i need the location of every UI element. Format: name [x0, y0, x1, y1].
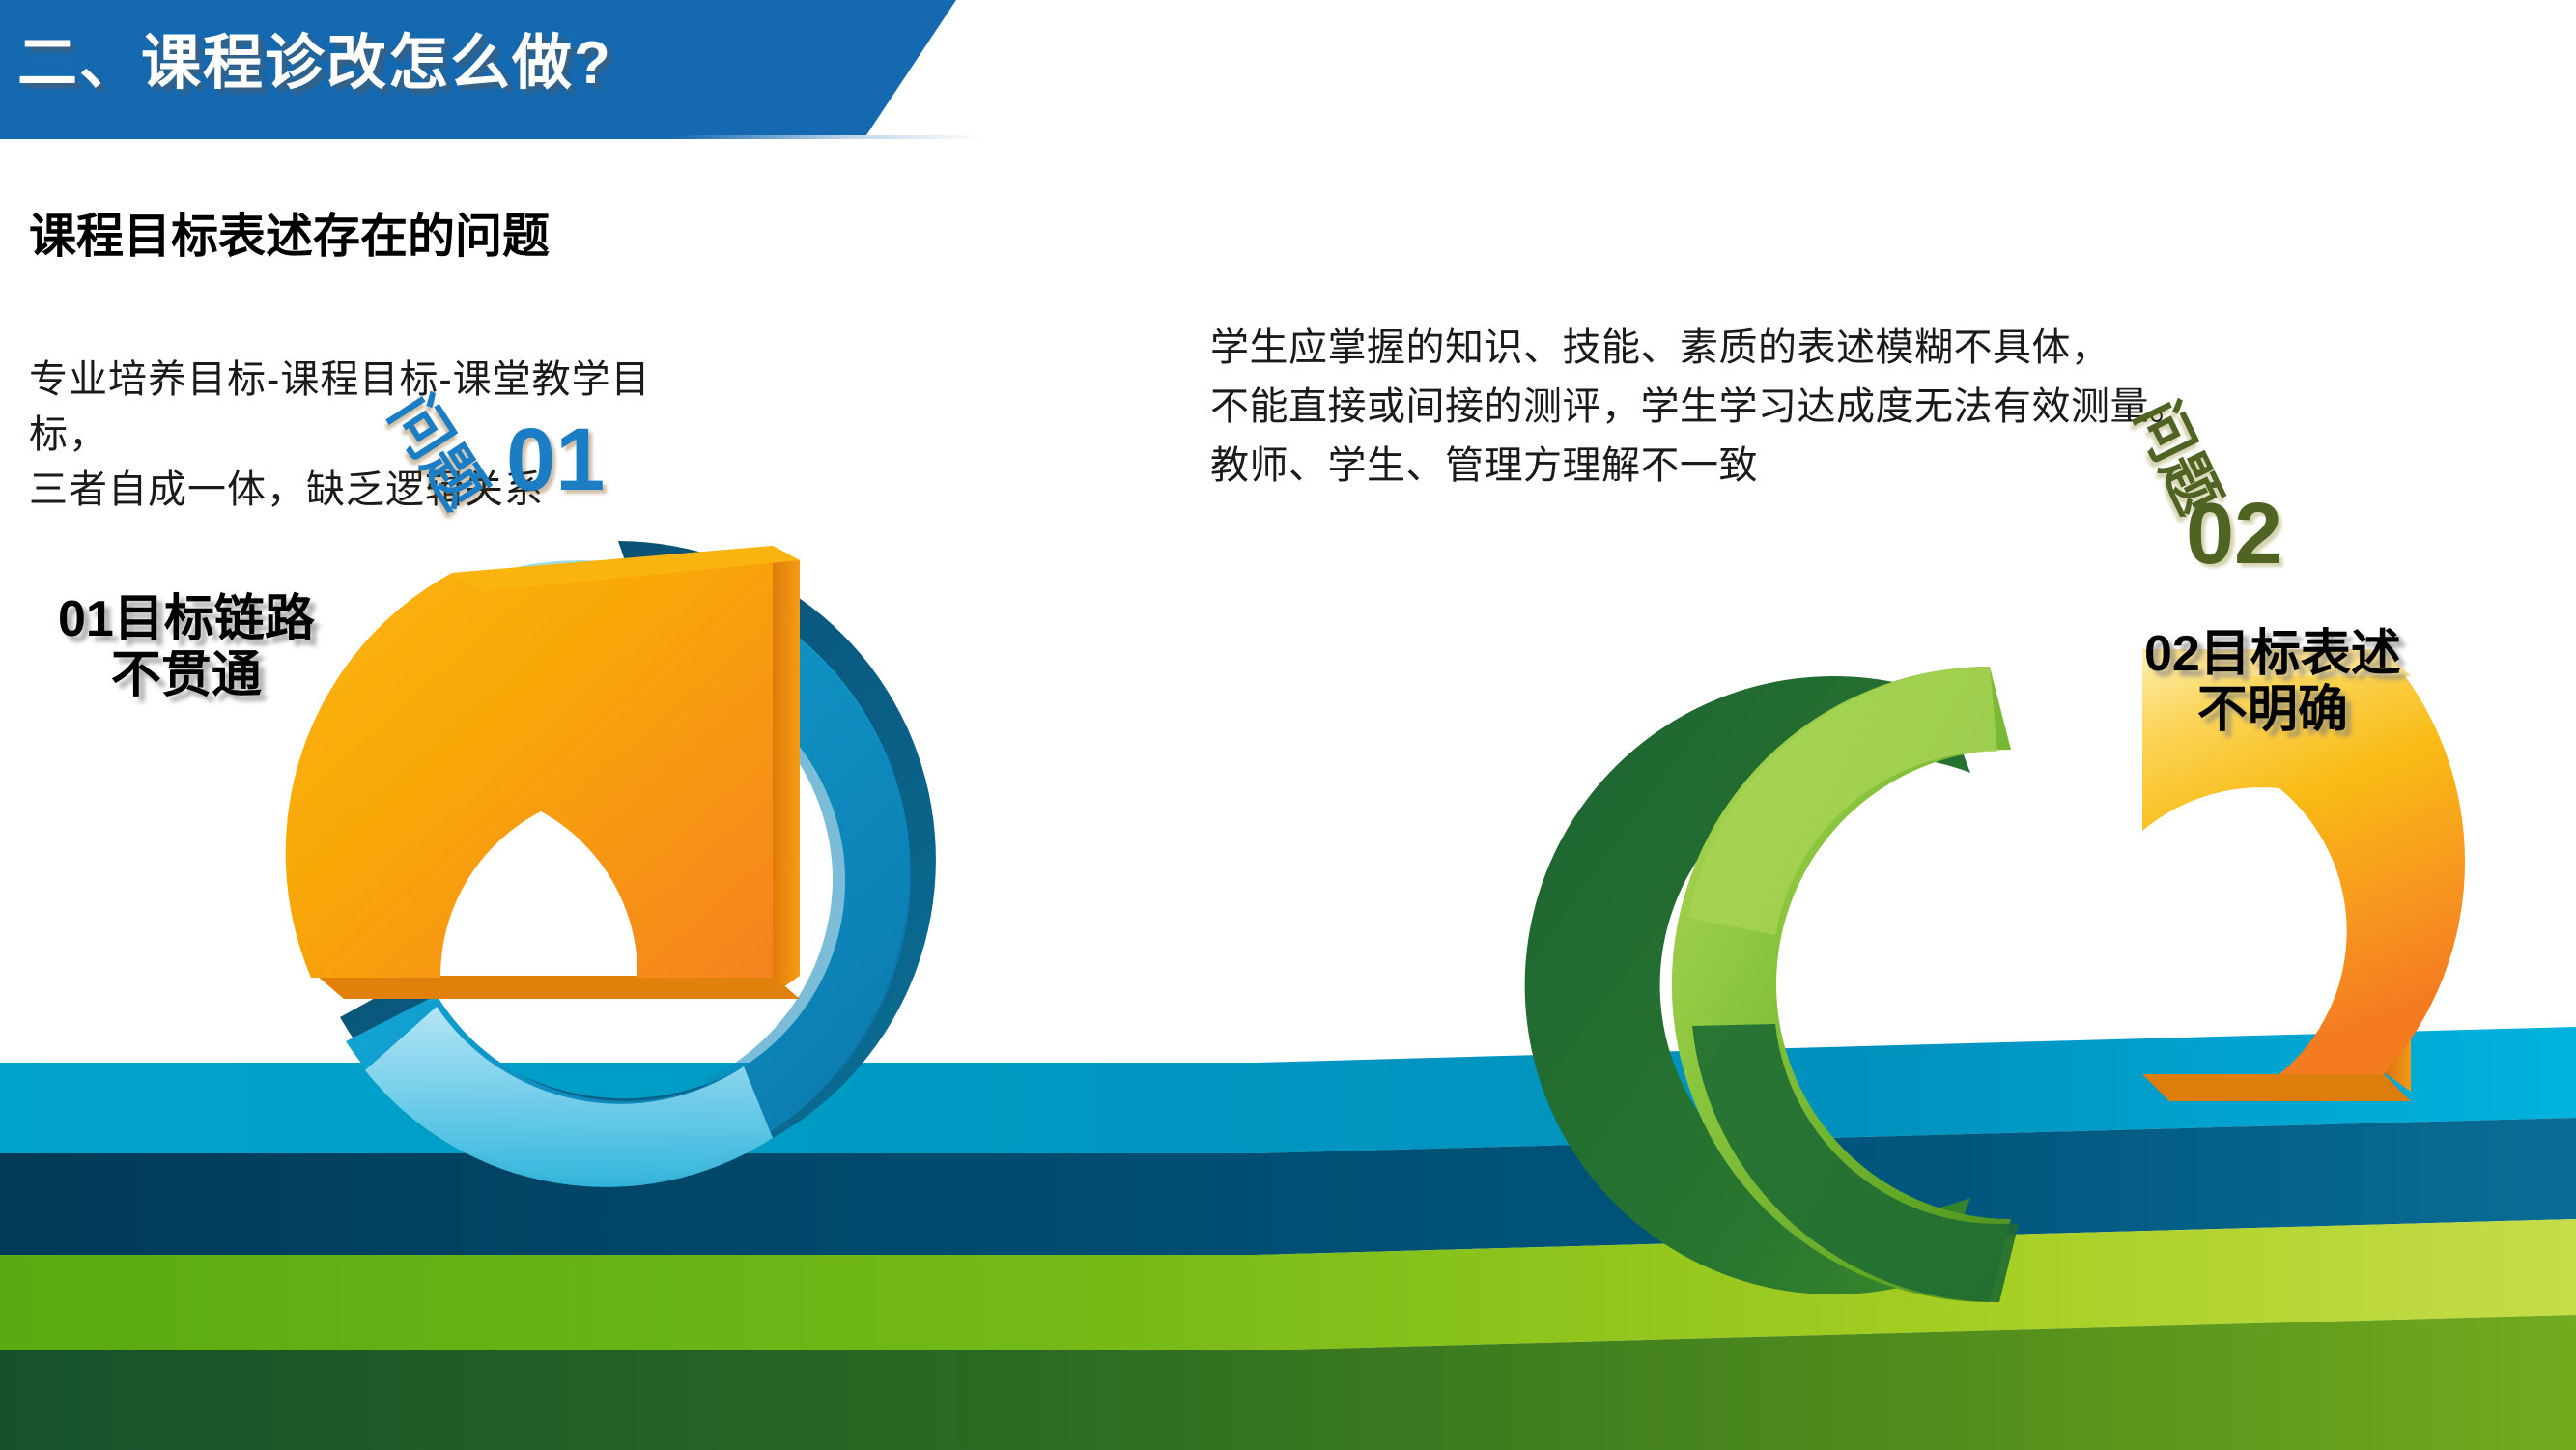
section-heading: 课程目标表述存在的问题	[29, 198, 550, 267]
page-title: 二、课程诊改怎么做?	[17, 14, 612, 100]
header-underline	[0, 135, 2576, 139]
callout-label-01: 01目标链路 不贯通	[58, 591, 315, 703]
callout-02-line-2: 不明确	[2144, 682, 2401, 738]
ribbon-01-number: 01	[506, 410, 605, 511]
callout-label-02: 02目标表述 不明确	[2144, 626, 2401, 738]
orange-ribbon-01	[286, 546, 800, 999]
right-paragraph-line-3: 教师、学生、管理方理解不一致	[1210, 437, 2562, 496]
right-paragraph-line-1: 学生应掌握的知识、技能、素质的表述模糊不具体，	[1210, 319, 2562, 378]
right-paragraph-line-2: 不能直接或间接的测评，学生学习达成度无法有效测量。	[1210, 378, 2562, 437]
callout-01-line-1: 01目标链路	[58, 591, 315, 647]
callout-02-line-1: 02目标表述	[2144, 626, 2401, 682]
ribbon-02-number: 02	[2186, 485, 2282, 584]
callout-01-line-2: 不贯通	[58, 647, 315, 703]
right-paragraph: 学生应掌握的知识、技能、素质的表述模糊不具体， 不能直接或间接的测评，学生学习达…	[1210, 319, 2562, 495]
